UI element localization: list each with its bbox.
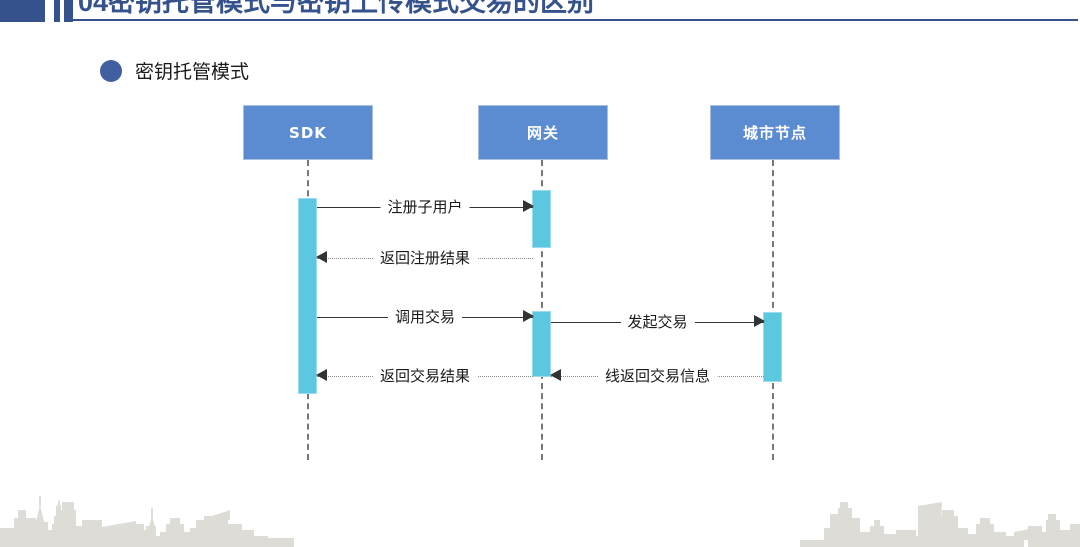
city-skyline-right-icon xyxy=(800,480,1080,547)
activation-bar-gateway-1 xyxy=(532,190,551,248)
message-label: 返回交易结果 xyxy=(373,365,477,387)
actor-label-sdk: SDK xyxy=(289,124,327,142)
message-label: 注册子用户 xyxy=(380,196,469,218)
message-return-transaction-info: 线返回交易信息 xyxy=(551,365,764,387)
actor-box-citynode[interactable]: 城市节点 xyxy=(710,105,840,160)
message-register-subuser: 注册子用户 xyxy=(317,196,533,218)
arrowhead-right-icon xyxy=(523,200,534,212)
arrowhead-left-icon xyxy=(316,369,327,381)
arrowhead-right-icon xyxy=(754,315,765,327)
message-initiate-transaction: 发起交易 xyxy=(551,311,764,333)
message-label: 线返回交易信息 xyxy=(598,365,717,387)
activation-bar-sdk xyxy=(298,198,317,394)
message-label: 发起交易 xyxy=(620,311,694,333)
actor-label-citynode: 城市节点 xyxy=(743,122,807,143)
message-label: 调用交易 xyxy=(388,306,462,328)
arrowhead-left-icon xyxy=(550,369,561,381)
message-return-register-result: 返回注册结果 xyxy=(317,247,533,269)
message-invoke-transaction: 调用交易 xyxy=(317,306,533,328)
activation-bar-citynode xyxy=(763,312,782,382)
message-return-transaction-result: 返回交易结果 xyxy=(317,365,533,387)
arrowhead-right-icon xyxy=(523,310,534,322)
city-skyline-left-icon xyxy=(0,480,300,547)
message-label: 返回注册结果 xyxy=(373,247,477,269)
actor-box-gateway[interactable]: 网关 xyxy=(478,105,608,160)
arrowhead-left-icon xyxy=(316,251,327,263)
actor-label-gateway: 网关 xyxy=(527,122,559,143)
activation-bar-gateway-2 xyxy=(532,311,551,377)
lifeline-citynode xyxy=(772,160,774,460)
actor-box-sdk[interactable]: SDK xyxy=(243,105,373,160)
sequence-diagram: SDK 网关 城市节点 注册子用户 返回注册结果 调用交易 发起交易 线返回交易… xyxy=(0,0,1080,547)
